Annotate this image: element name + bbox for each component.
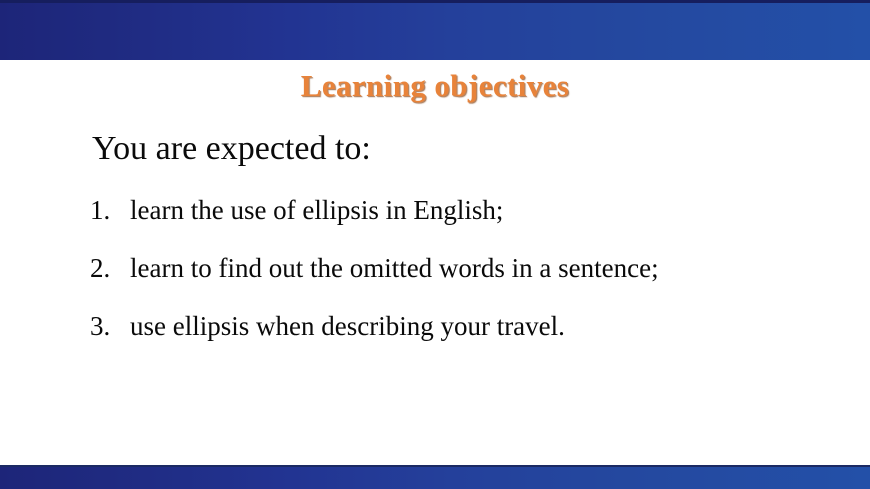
bottom-decorative-banner [0,465,870,489]
list-item: 1. learn the use of ellipsis in English; [90,193,830,227]
objectives-list: 1. learn the use of ellipsis in English;… [90,193,830,343]
slide: Learning objectives You are expected to:… [0,0,870,489]
list-item-text: learn the use of ellipsis in English; [130,193,830,227]
list-item: 3. use ellipsis when describing your tra… [90,309,830,343]
list-item-text: learn to find out the omitted words in a… [130,251,830,285]
list-item-number: 2. [90,251,130,285]
list-item-number: 3. [90,309,130,343]
top-decorative-banner [0,0,870,60]
lead-text: You are expected to: [92,129,371,169]
list-item-number: 1. [90,193,130,227]
list-item-text: use ellipsis when describing your travel… [130,309,830,343]
list-item: 2. learn to find out the omitted words i… [90,251,830,285]
page-title: Learning objectives [0,68,870,104]
